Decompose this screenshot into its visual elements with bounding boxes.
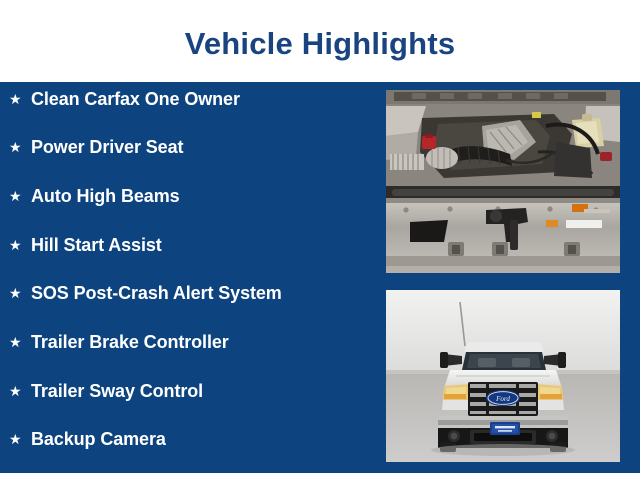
star-icon: ★ (9, 140, 31, 154)
list-item: ★ Clean Carfax One Owner (9, 86, 240, 112)
engine-bay-illustration (386, 90, 620, 273)
feature-label: Backup Camera (31, 430, 166, 448)
feature-label: Hill Start Assist (31, 236, 162, 254)
list-item: ★ Trailer Brake Controller (9, 329, 229, 355)
list-item: ★ Hill Start Assist (9, 232, 162, 258)
vehicle-highlights-slide: Vehicle Highlights ★ Clean Carfax One Ow… (0, 0, 640, 480)
content-panel: ★ Clean Carfax One Owner ★ Power Driver … (0, 82, 640, 473)
svg-text:Ford: Ford (495, 395, 510, 403)
feature-label: Clean Carfax One Owner (31, 90, 240, 108)
star-icon: ★ (9, 384, 31, 398)
list-item: ★ SOS Post-Crash Alert System (9, 280, 282, 306)
feature-label: Power Driver Seat (31, 138, 183, 156)
list-item: ★ Power Driver Seat (9, 134, 183, 160)
truck-front-illustration: Ford (386, 290, 620, 462)
star-icon: ★ (9, 92, 31, 106)
star-icon: ★ (9, 189, 31, 203)
page-title: Vehicle Highlights (185, 28, 456, 59)
feature-label: Trailer Brake Controller (31, 333, 229, 351)
star-icon: ★ (9, 432, 31, 446)
star-icon: ★ (9, 238, 31, 252)
engine-bay-photo (386, 90, 620, 273)
list-item: ★ Auto High Beams (9, 183, 180, 209)
list-item: ★ Trailer Sway Control (9, 378, 203, 404)
feature-list: ★ Clean Carfax One Owner ★ Power Driver … (0, 82, 386, 473)
star-icon: ★ (9, 335, 31, 349)
list-item: ★ Backup Camera (9, 426, 166, 452)
feature-label: Auto High Beams (31, 187, 180, 205)
truck-front-photo: Ford (386, 290, 620, 462)
feature-label: Trailer Sway Control (31, 382, 203, 400)
feature-label: SOS Post-Crash Alert System (31, 284, 282, 302)
slide-header: Vehicle Highlights (0, 0, 640, 82)
footer-strip (0, 473, 640, 480)
star-icon: ★ (9, 286, 31, 300)
